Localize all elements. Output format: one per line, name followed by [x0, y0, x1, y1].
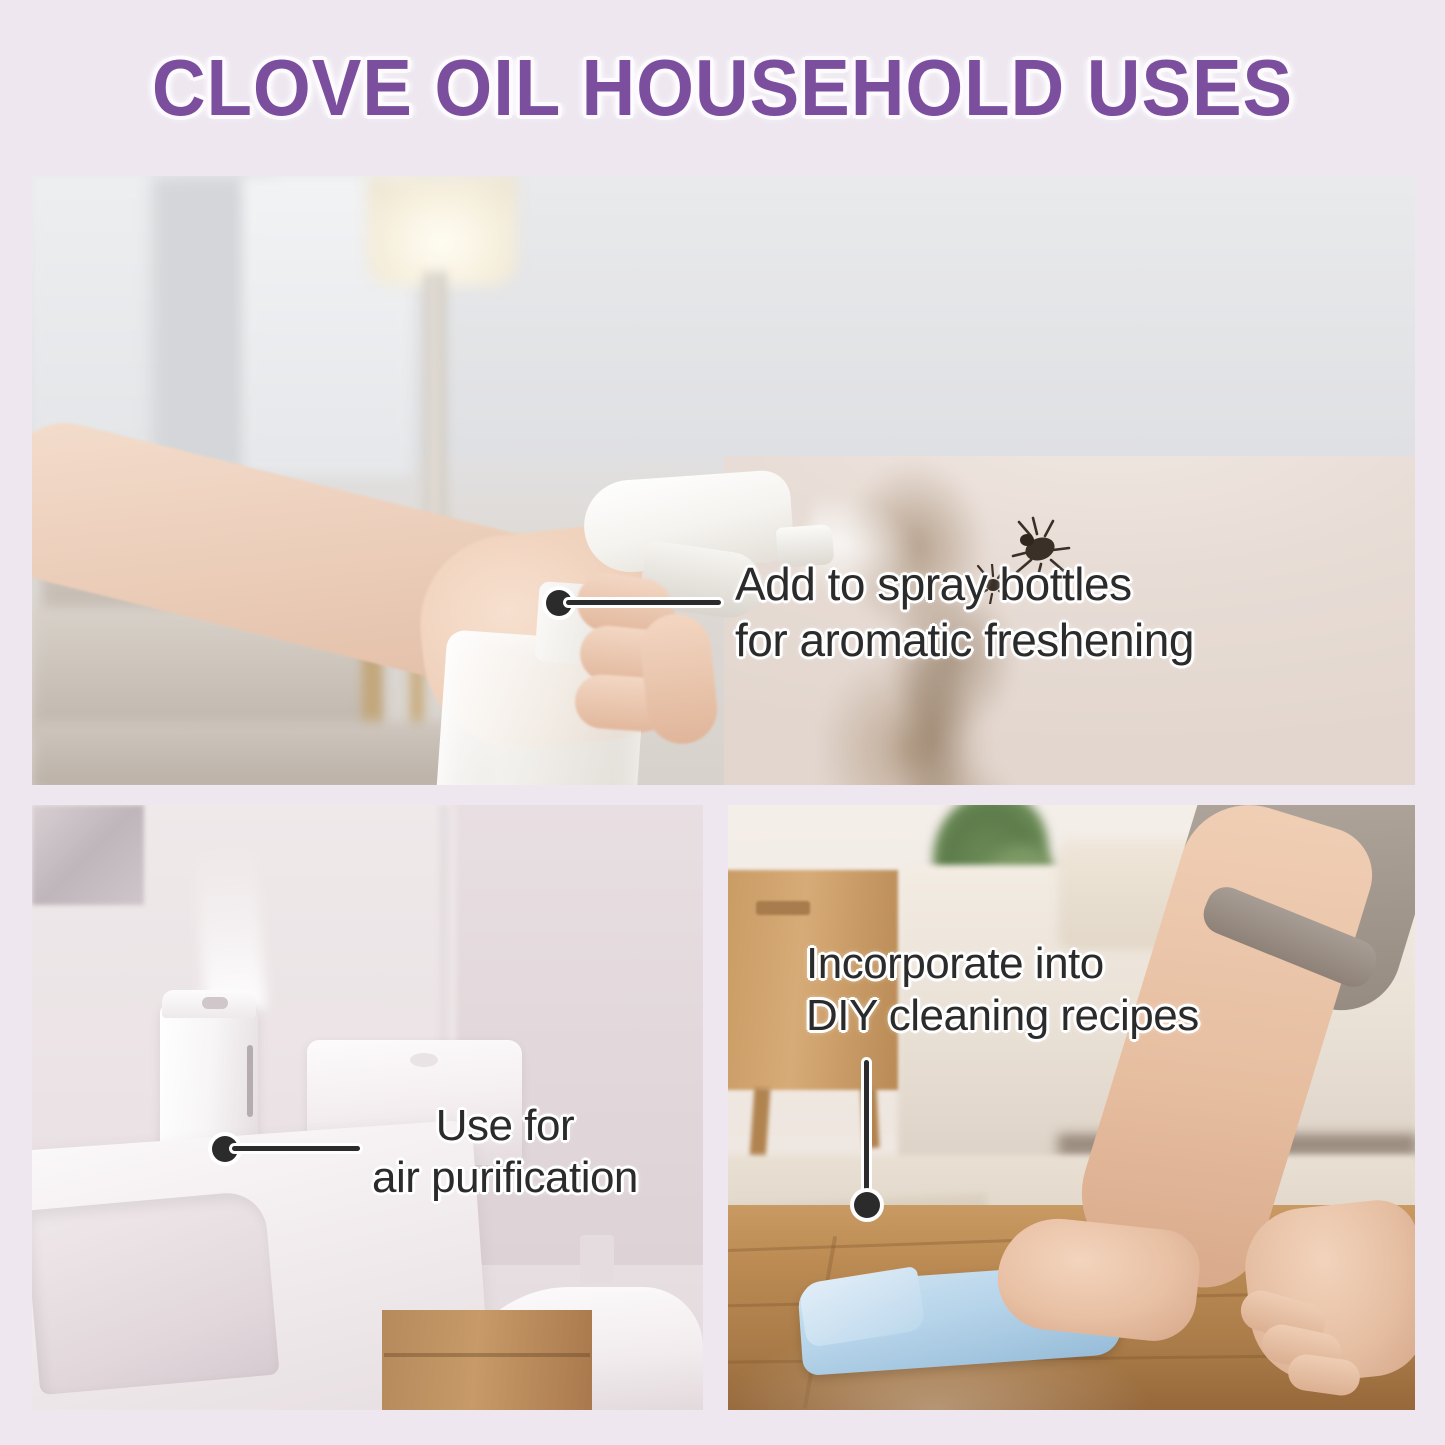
- sink-basin: [32, 1190, 280, 1395]
- panel-air-purification: Use for air purification: [32, 805, 703, 1410]
- infographic-page: CLOVE OIL HOUSEHOLD USES: [0, 0, 1445, 1445]
- callout-line-clean: [864, 1060, 869, 1200]
- floor-lamp-shade: [367, 176, 517, 286]
- wall-art: [32, 805, 144, 905]
- room-floor: [32, 721, 492, 785]
- page-title: CLOVE OIL HOUSEHOLD USES: [51, 46, 1395, 130]
- floor-lamp-stem: [424, 272, 446, 532]
- wall-outlet: [580, 1235, 614, 1283]
- wooden-vanity-cabinet: [382, 1310, 592, 1410]
- humidifier-mist-outlet: [202, 997, 228, 1009]
- caption-air-purification: Use for air purification: [372, 1100, 638, 1204]
- humidifier-water-window: [247, 1045, 253, 1117]
- caption-diy-cleaning: Incorporate into DIY cleaning recipes: [806, 938, 1199, 1042]
- caption-spray-bottle: Add to spray bottles for aromatic freshe…: [735, 556, 1194, 668]
- panel-diy-cleaning: Incorporate into DIY cleaning recipes: [728, 805, 1415, 1410]
- scene-spray-bottle: [32, 176, 1415, 785]
- panel-spray-bottle: Add to spray bottles for aromatic freshe…: [32, 176, 1415, 785]
- humidifier-mist: [194, 843, 265, 1012]
- toilet-flush-button: [410, 1053, 438, 1067]
- side-table-drawer-handle: [756, 901, 810, 915]
- callout-line-purify: [232, 1146, 360, 1151]
- callout-dot-clean: [854, 1192, 880, 1218]
- vanity-seam: [384, 1353, 590, 1357]
- scene-floor-cleaning: [728, 805, 1415, 1410]
- callout-line-spray: [566, 600, 721, 605]
